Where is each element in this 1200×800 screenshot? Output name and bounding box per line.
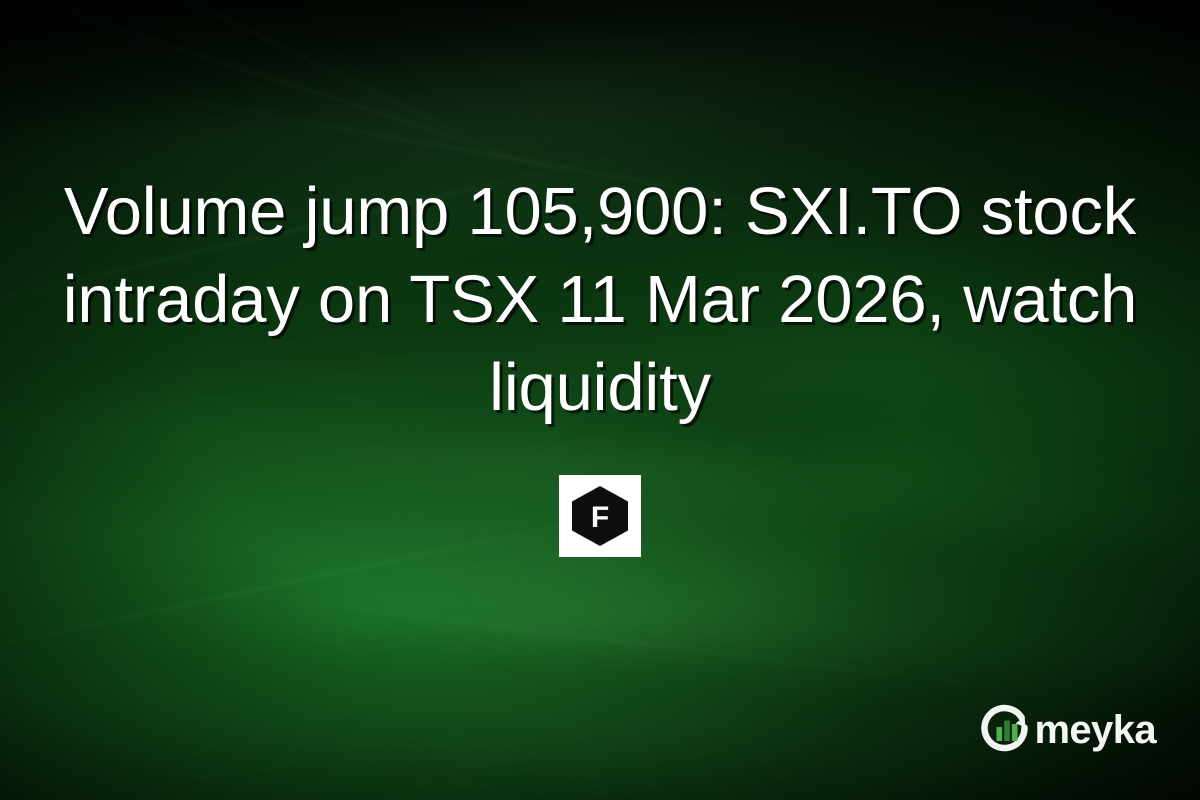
poster-content: Volume jump 105,900: SXI.TO stock intrad…: [0, 0, 1200, 800]
brand-name: meyka: [1034, 710, 1156, 750]
page-title: Volume jump 105,900: SXI.TO stock intrad…: [0, 168, 1200, 431]
poster-canvas: Volume jump 105,900: SXI.TO stock intrad…: [0, 0, 1200, 800]
brand-lockup: meyka: [980, 704, 1156, 756]
hexagon-icon: F: [571, 485, 629, 547]
hexagon-f-badge: F: [559, 475, 641, 557]
bar-chart-ring-icon: [980, 704, 1032, 756]
badge-letter: F: [591, 501, 609, 534]
